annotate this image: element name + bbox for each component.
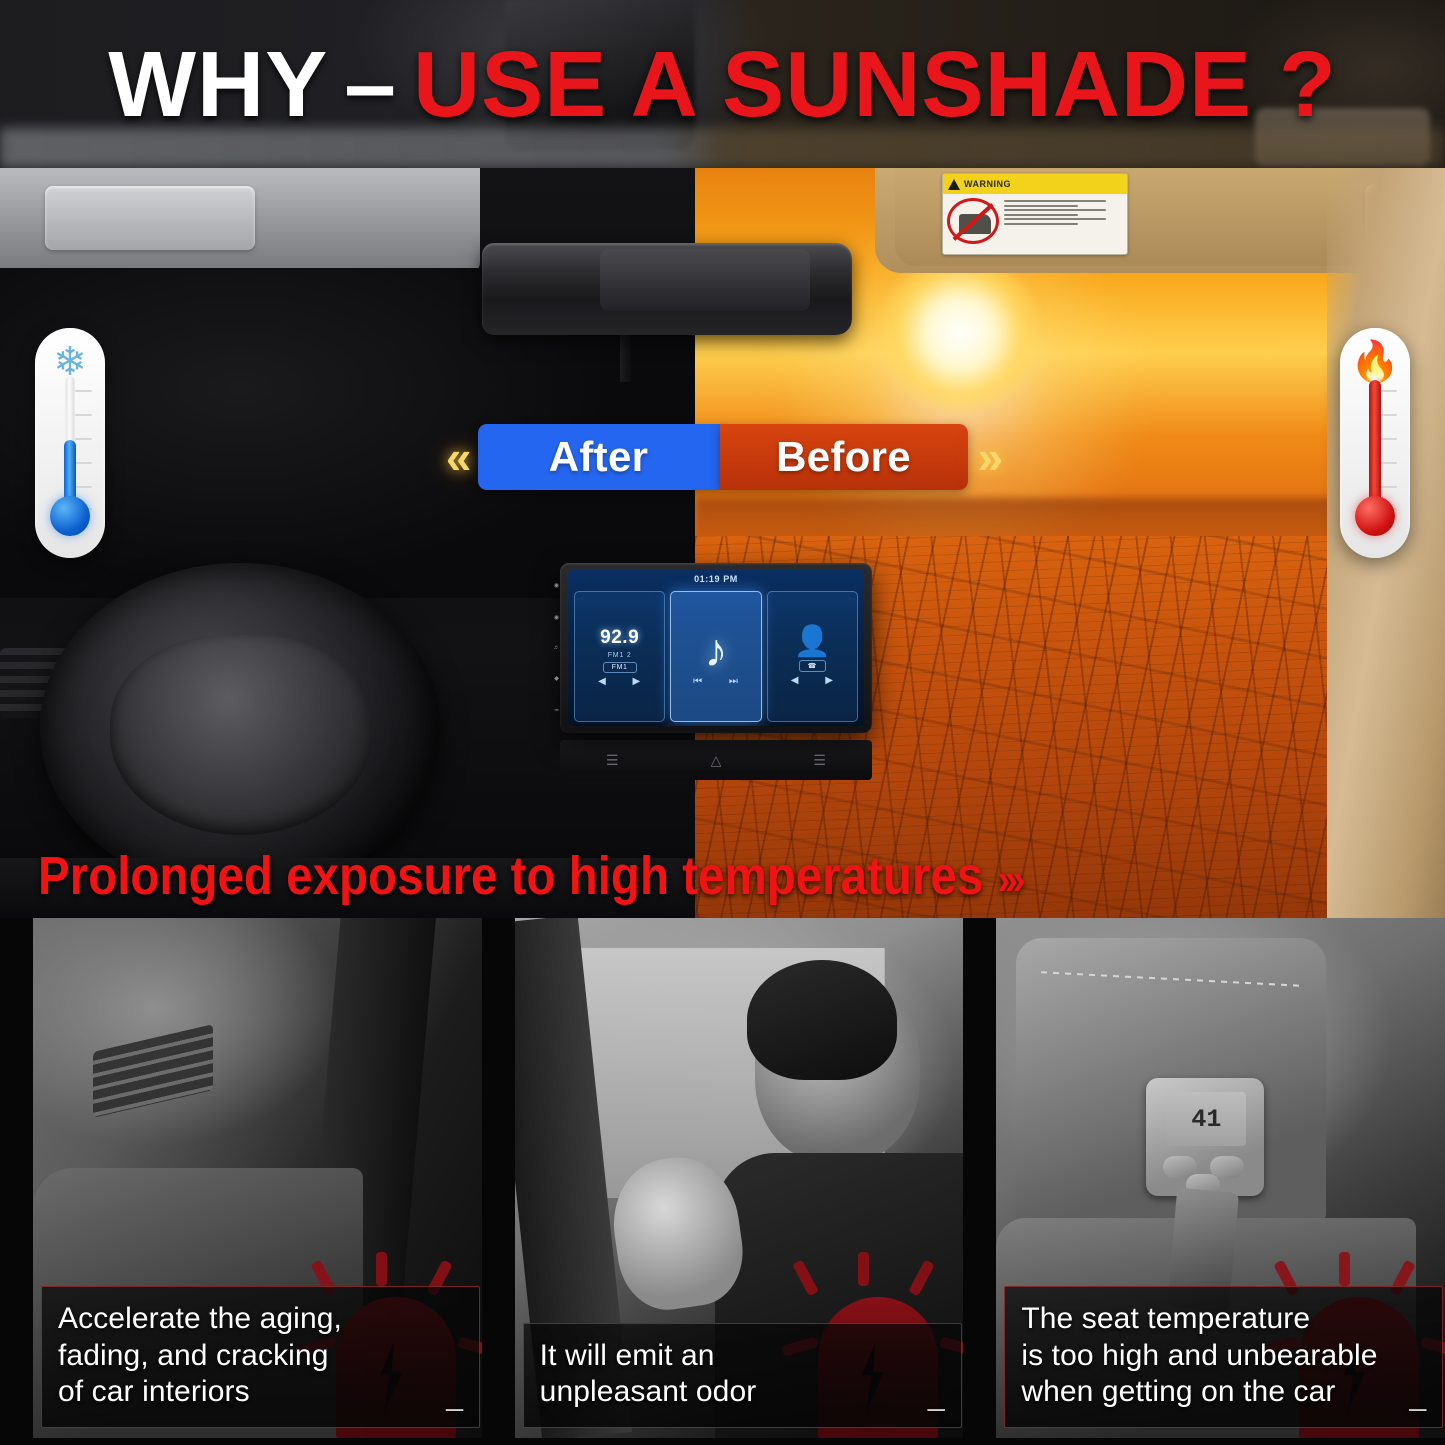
panel-seat-temperature: 41 The seat temperature is too high and … <box>996 918 1445 1438</box>
rear-view-mirror <box>482 243 852 335</box>
caption-mark: _ <box>928 1381 945 1411</box>
chevron-right-icon: » <box>968 434 1010 480</box>
caption-mark: _ <box>1410 1381 1427 1411</box>
ir-gun-display: 41 <box>1166 1092 1246 1146</box>
center-console-controls[interactable]: ☰ △ ☰ <box>560 740 872 780</box>
photo1-defroster-vent <box>93 1024 213 1118</box>
side-button-home[interactable]: ◉ <box>554 614 559 621</box>
ir-gun-button-right <box>1210 1156 1244 1178</box>
panel-interior-aging: Accelerate the aging, fading, and cracki… <box>33 918 482 1438</box>
media-transport-icons[interactable]: ⏮ ⏭ <box>682 676 750 687</box>
caption-text: The seat temperature is too high and unb… <box>1021 1301 1377 1411</box>
side-button-menu[interactable]: ◆ <box>554 675 559 682</box>
before-after-badge-row: « After Before » <box>0 411 1445 503</box>
sunshade-infographic: WHY – USE A SUNSHADE ? <box>0 0 1445 1445</box>
caption-wrap: The seat temperature is too high and unb… <box>996 1286 1445 1438</box>
subheading-arrows-icon: ››› <box>997 855 1020 904</box>
phone-chip[interactable]: ☎ <box>799 660 826 672</box>
head-unit-status-bar: 01:19 PM <box>568 570 864 587</box>
seat-heater-left-icon[interactable]: ☰ <box>606 752 619 769</box>
music-note-icon: ♪ <box>704 627 727 673</box>
after-badge[interactable]: After <box>478 424 720 490</box>
title-phrase-red: USE A SUNSHADE ? <box>413 38 1337 131</box>
head-unit-screen: 01:19 PM 92.9 FM1 2 FM1 ◀ ▶ ♪ ⏮ ⏭ 👤 <box>568 570 864 726</box>
title-word-why: WHY <box>108 38 328 131</box>
infotainment-head-unit[interactable]: ◉ ◉ ♬ ◆ ━ 01:19 PM 92.9 FM1 2 FM1 ◀ ▶ <box>560 563 872 733</box>
title-dash: – <box>344 38 397 131</box>
no-child-seat-icon <box>947 198 999 244</box>
person-icon: 👤 <box>794 627 831 657</box>
hazard-light-icon[interactable]: △ <box>711 752 722 769</box>
caption-wrap: Accelerate the aging, fading, and cracki… <box>33 1286 482 1438</box>
airbag-warning-label: WARNING <box>942 173 1128 255</box>
radio-card[interactable]: 92.9 FM1 2 FM1 ◀ ▶ <box>574 591 665 722</box>
subheading-text: Prolonged exposure to high temperatures <box>38 846 983 906</box>
hero-split-comparison: WARNING ❄ <box>0 168 1445 918</box>
steering-wheel <box>40 563 440 893</box>
before-badge[interactable]: Before <box>720 424 968 490</box>
left-sun-visor <box>0 168 480 276</box>
head-unit-side-buttons[interactable]: ◉ ◉ ♬ ◆ ━ <box>553 570 560 726</box>
caption-text: It will emit an unpleasant odor <box>540 1338 757 1411</box>
caption-mark: _ <box>446 1381 463 1411</box>
mirror-stem <box>620 328 631 382</box>
panel-caption: The seat temperature is too high and unb… <box>1004 1286 1443 1428</box>
panel-unpleasant-odor: It will emit an unpleasant odor _ <box>515 918 964 1438</box>
radio-band-sub: FM1 2 <box>608 652 632 659</box>
radio-frequency: 92.9 <box>600 627 639 649</box>
warning-body <box>943 194 1127 248</box>
panel-caption: It will emit an unpleasant odor _ <box>523 1323 962 1428</box>
chevron-left-icon: « <box>436 434 478 480</box>
sun-disc <box>880 253 1040 413</box>
radio-tuning-arrows[interactable]: ◀ ▶ <box>587 676 652 687</box>
panel-caption: Accelerate the aging, fading, and cracki… <box>41 1286 480 1428</box>
warning-heading-text: WARNING <box>964 179 1011 189</box>
photo2-hair <box>747 960 897 1080</box>
phone-arrows[interactable]: ◀ ▶ <box>780 675 845 686</box>
infrared-thermometer-gun: 41 <box>1146 1078 1266 1308</box>
page-title: WHY – USE A SUNSHADE ? <box>0 0 1445 168</box>
side-button-minus[interactable]: ━ <box>555 707 559 714</box>
caption-text: Accelerate the aging, fading, and cracki… <box>58 1301 342 1411</box>
warning-header: WARNING <box>943 174 1127 194</box>
side-button-power[interactable]: ◉ <box>554 582 559 589</box>
phone-card[interactable]: 👤 ☎ ◀ ▶ <box>767 591 858 722</box>
consequence-panels: Accelerate the aging, fading, and cracki… <box>0 918 1445 1445</box>
radio-band-chip[interactable]: FM1 <box>603 662 637 673</box>
media-card[interactable]: ♪ ⏮ ⏭ <box>670 591 761 722</box>
warning-triangle-icon <box>948 179 960 190</box>
warning-text-lines <box>1004 198 1123 244</box>
seat-heater-right-icon[interactable]: ☰ <box>813 752 826 769</box>
caption-wrap: It will emit an unpleasant odor _ <box>515 1323 964 1438</box>
subheading: Prolonged exposure to high temperatures›… <box>38 845 1020 907</box>
head-unit-clock: 01:19 PM <box>694 574 738 584</box>
head-unit-cards: 92.9 FM1 2 FM1 ◀ ▶ ♪ ⏮ ⏭ 👤 ☎ ◀ ▶ <box>568 587 864 726</box>
side-button-volume[interactable]: ♬ <box>554 645 560 651</box>
